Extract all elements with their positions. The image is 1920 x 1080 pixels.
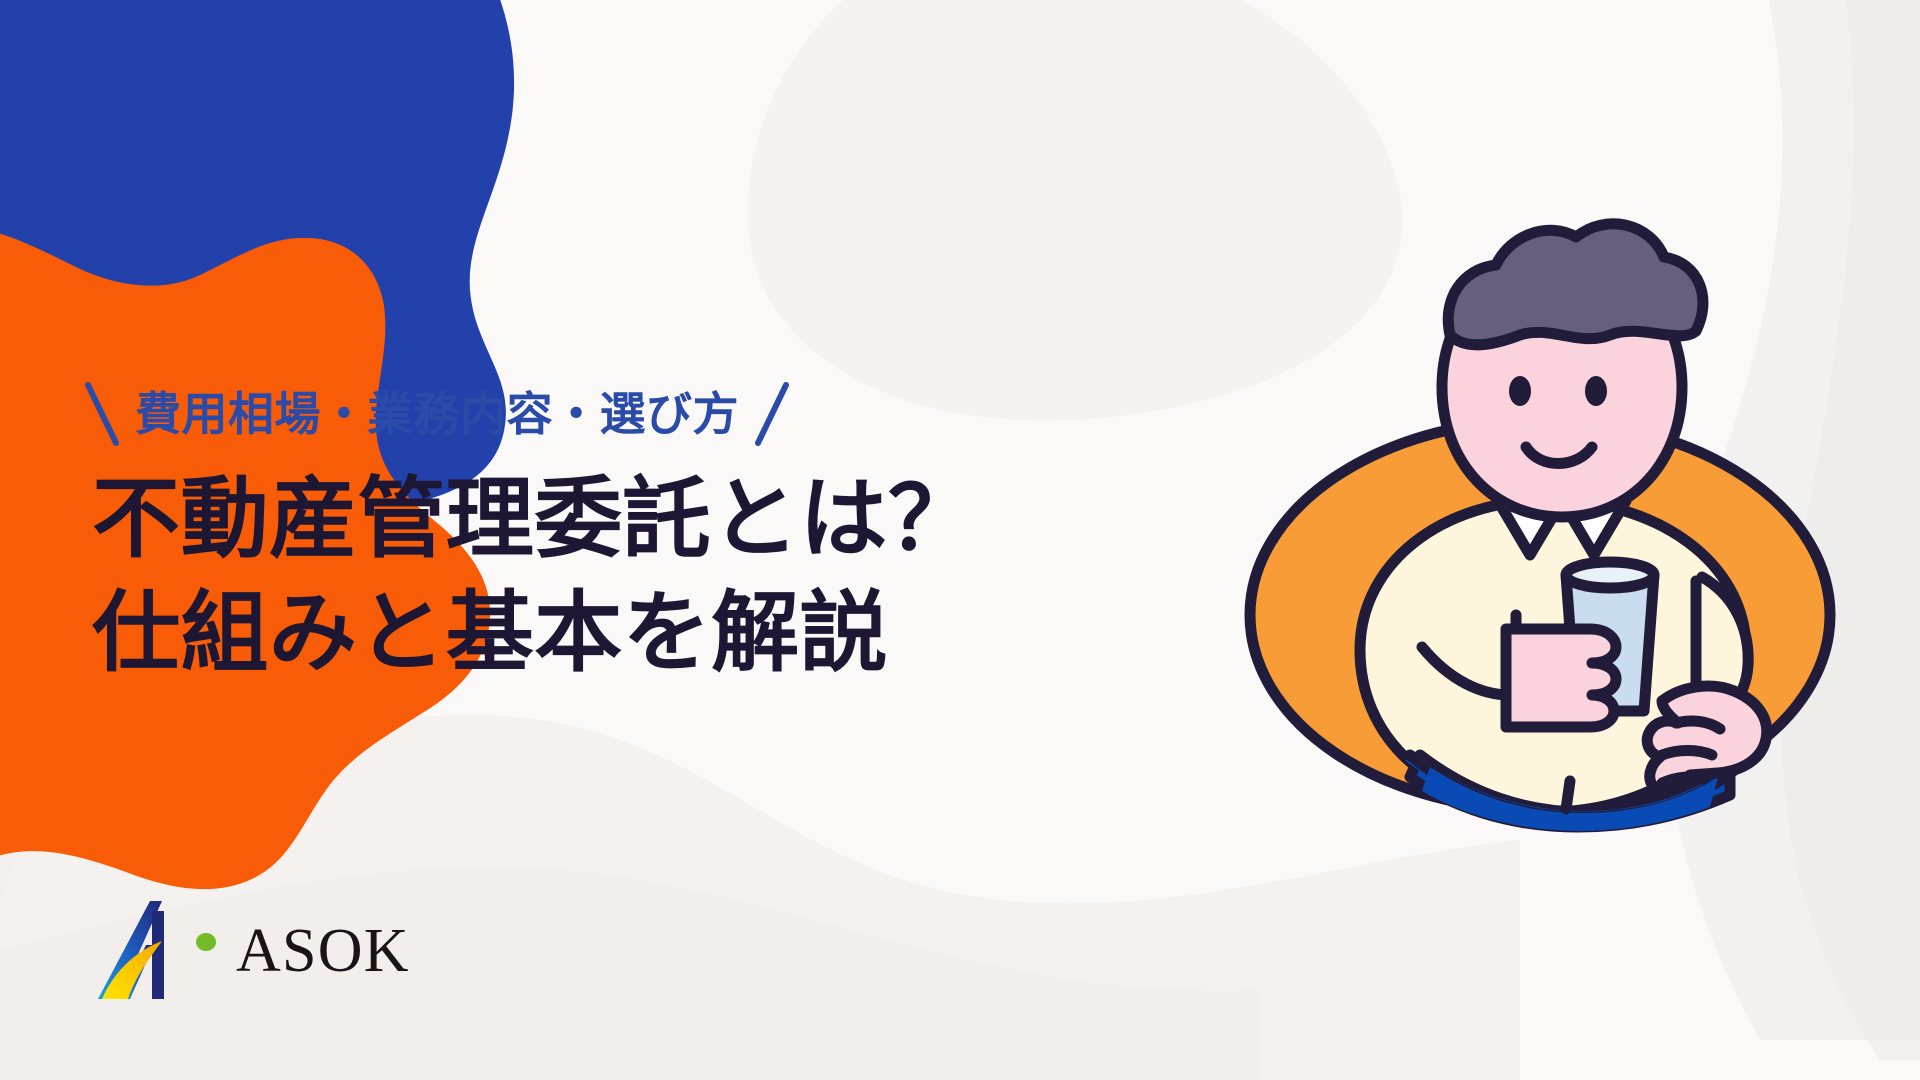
asok-wordmark: ASOK <box>236 920 410 982</box>
title-line-1: 不動産管理委託とは？ <box>92 462 976 576</box>
green-dot-icon <box>194 895 220 1003</box>
subtitle-text: 費用相場・業務内容・選び方 <box>135 391 739 437</box>
asok-logo[interactable]: ASOK <box>96 895 410 1003</box>
page-title: 不動産管理委託とは？ 仕組みと基本を解説 <box>92 462 976 691</box>
subtitle-row: 費用相場・業務内容・選び方 <box>85 378 789 450</box>
title-line-2: 仕組みと基本を解説 <box>92 576 976 690</box>
hero-banner: 費用相場・業務内容・選び方 不動産管理委託とは？ 仕組みと基本を解説 <box>0 0 1920 1080</box>
left-slash-icon <box>85 381 121 447</box>
asok-a-mark-icon <box>96 895 188 1003</box>
right-slash-icon <box>753 381 789 447</box>
man-holding-glass-illustration <box>1210 195 1910 835</box>
